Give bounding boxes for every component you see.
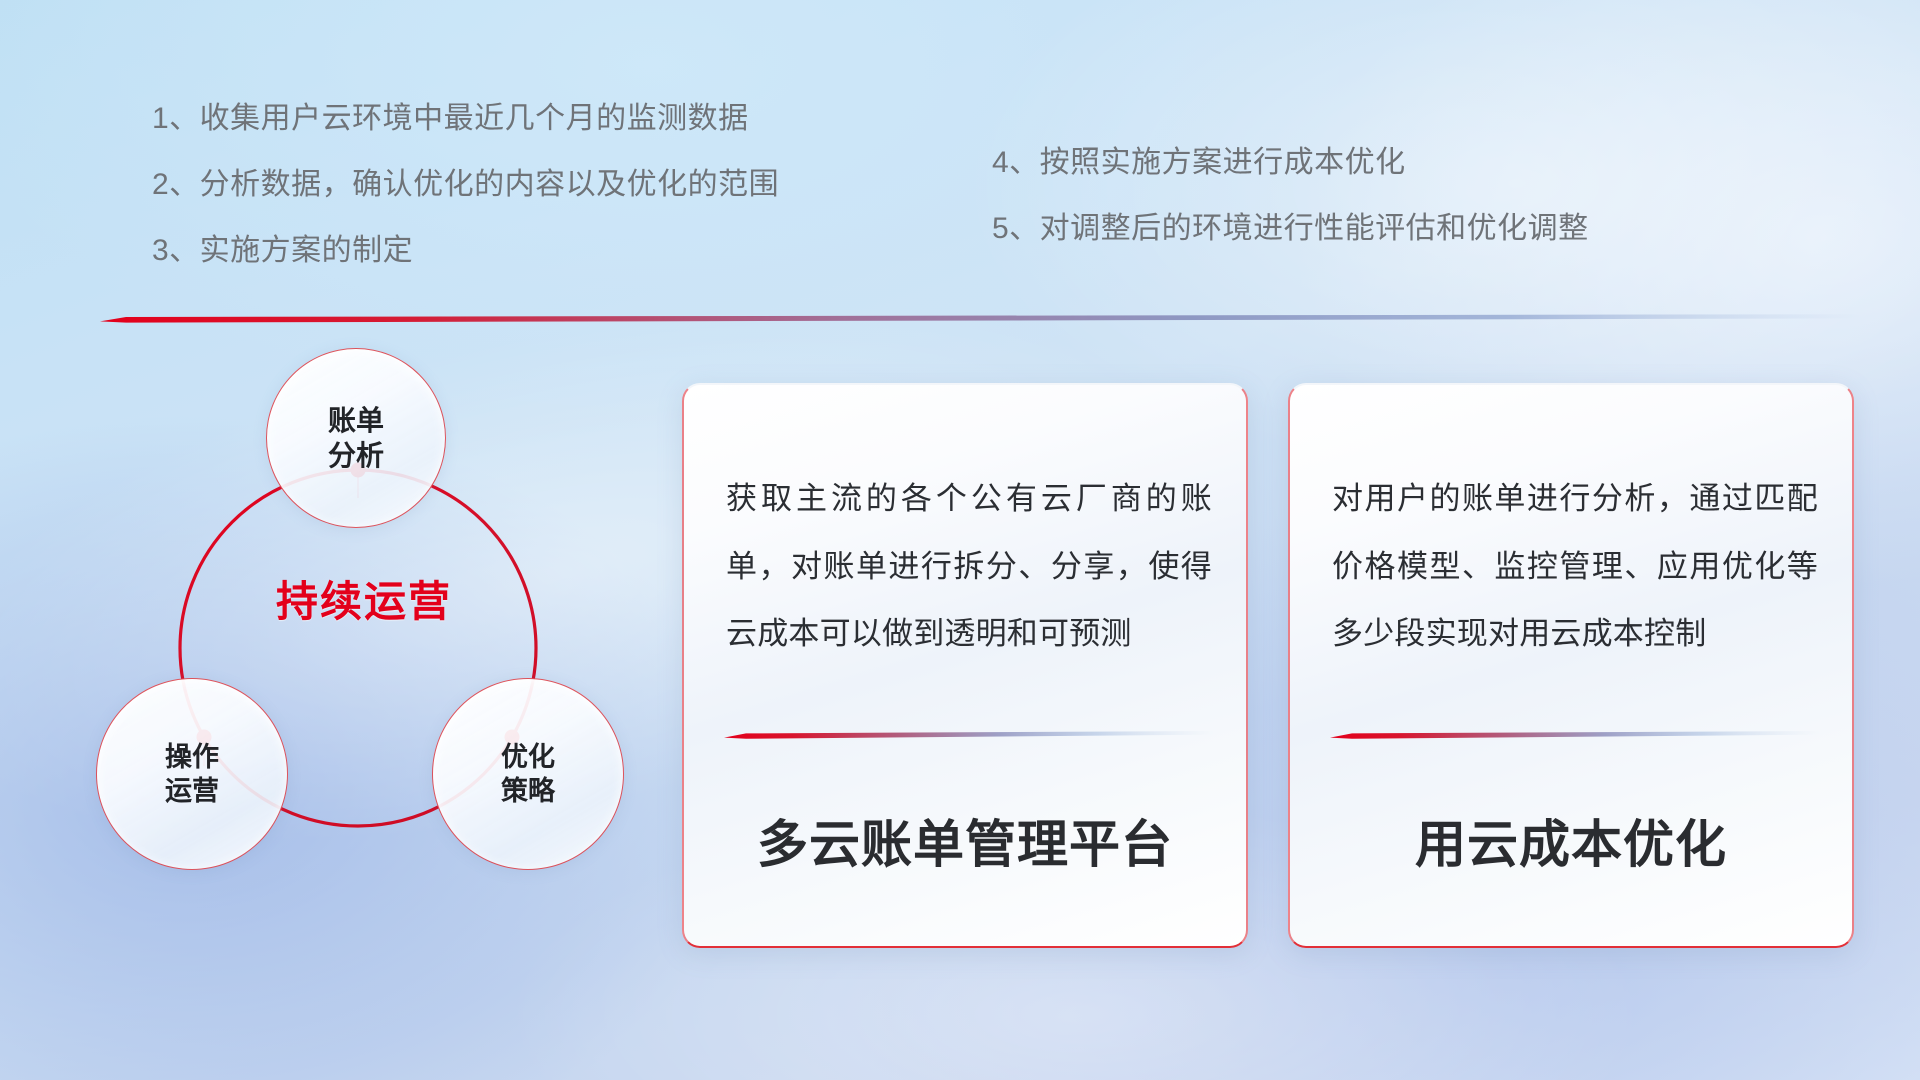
- bubble-label-line2: 分析: [328, 438, 384, 473]
- feature-card-multi-cloud-bill-platform[interactable]: 获取主流的各个公有云厂商的账单，对账单进行拆分、分享，使得云成本可以做到透明和可…: [682, 383, 1248, 948]
- diagram-center-label: 持续运营: [274, 576, 454, 628]
- feature-card-accent-rule: [724, 730, 1216, 739]
- diagram-bubble-operation-management[interactable]: 操作 运营: [96, 678, 288, 870]
- bubble-label-line2: 策略: [501, 774, 555, 808]
- process-step-item: 5、对调整后的环境进行性能评估和优化调整: [992, 214, 1589, 244]
- process-steps: 1、收集用户云环境中最近几个月的监测数据 2、分析数据，确认优化的内容以及优化的…: [0, 104, 1920, 274]
- process-step-item: 2、分析数据，确认优化的内容以及优化的范围: [152, 170, 779, 200]
- feature-card-description: 获取主流的各个公有云厂商的账单，对账单进行拆分、分享，使得云成本可以做到透明和可…: [726, 465, 1212, 668]
- feature-card-title: 多云账单管理平台: [684, 803, 1246, 877]
- process-step-item: 1、收集用户云环境中最近几个月的监测数据: [152, 104, 779, 134]
- bubble-label-line2: 运营: [165, 774, 219, 808]
- bubble-label-line1: 操作: [165, 740, 219, 774]
- diagram-bubble-bill-analysis[interactable]: 账单 分析: [266, 348, 446, 528]
- process-step-item: 4、按照实施方案进行成本优化: [992, 148, 1589, 178]
- feature-card-description: 对用户的账单进行分析，通过匹配价格模型、监控管理、应用优化等多少段实现对用云成本…: [1332, 465, 1818, 668]
- bubble-label-line1: 优化: [501, 740, 555, 774]
- process-steps-left-column: 1、收集用户云环境中最近几个月的监测数据 2、分析数据，确认优化的内容以及优化的…: [152, 104, 779, 302]
- continuous-operation-diagram: 账单 分析 操作 运营 优化 策略 持续运营: [96, 348, 656, 948]
- feature-card-cloud-cost-optimization[interactable]: 对用户的账单进行分析，通过匹配价格模型、监控管理、应用优化等多少段实现对用云成本…: [1288, 383, 1854, 948]
- feature-card-title: 用云成本优化: [1290, 803, 1852, 877]
- bubble-label-line1: 账单: [328, 403, 384, 438]
- slide-canvas: 1、收集用户云环境中最近几个月的监测数据 2、分析数据，确认优化的内容以及优化的…: [0, 0, 1920, 1080]
- feature-card-accent-rule: [1330, 730, 1822, 739]
- process-step-item: 3、实施方案的制定: [152, 236, 779, 266]
- diagram-bubble-optimization-policy[interactable]: 优化 策略: [432, 678, 624, 870]
- section-divider: [100, 313, 1860, 323]
- process-steps-right-column: 4、按照实施方案进行成本优化 5、对调整后的环境进行性能评估和优化调整: [992, 148, 1589, 280]
